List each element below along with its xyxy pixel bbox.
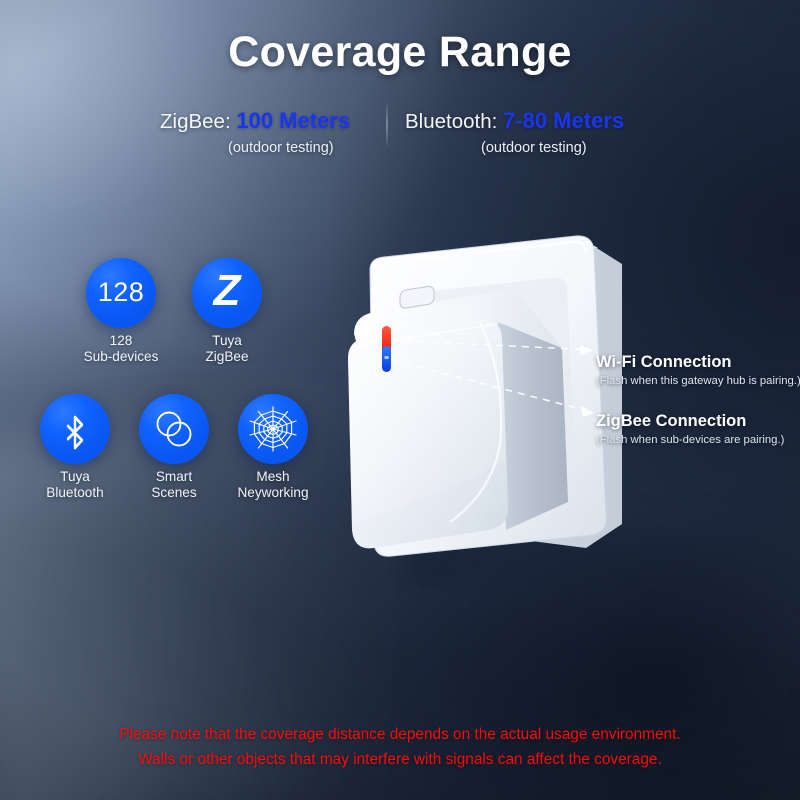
infographic-canvas: Coverage Range ZigBee: 100 Meters (outdo… <box>0 0 800 800</box>
badge-tuya-zigbee: Z <box>192 258 262 328</box>
smart-gateway-hub <box>330 230 630 590</box>
stat-bluetooth-value: 7-80 Meters <box>503 108 624 133</box>
footer-line-1: Please note that the coverage distance d… <box>0 722 800 747</box>
stat-zigbee-value: 100 Meters <box>236 108 350 133</box>
badge-smart-scenes <box>139 394 209 464</box>
badge-tuya-zigbee-label: Tuya ZigBee <box>152 333 302 364</box>
stat-zigbee-note: (outdoor testing) <box>228 140 334 156</box>
smart-scenes-icon <box>150 405 198 453</box>
bluetooth-icon <box>55 406 95 452</box>
callout-wifi-note: (Flash when this gateway hub is pairing.… <box>596 375 800 387</box>
callout-wifi-title: Wi-Fi Connection <box>596 353 800 372</box>
badge-mesh-networking <box>238 394 308 464</box>
callout-wifi-connection: Wi-Fi Connection (Flash when this gatewa… <box>596 353 800 387</box>
footer-disclaimer: Please note that the coverage distance d… <box>0 722 800 772</box>
gateway-illustration <box>330 230 630 590</box>
stat-bluetooth-label: Bluetooth: <box>405 110 497 133</box>
page-title: Coverage Range <box>0 28 800 77</box>
stat-bluetooth: Bluetooth: 7-80 Meters <box>405 108 624 134</box>
stat-zigbee: ZigBee: 100 Meters <box>160 108 350 134</box>
stat-bluetooth-note: (outdoor testing) <box>481 140 587 156</box>
coverage-stats: ZigBee: 100 Meters (outdoor testing) Blu… <box>0 108 800 174</box>
badge-mesh-networking-label: Mesh Neyworking <box>198 469 348 500</box>
tuya-zigbee-z-icon: Z <box>214 269 241 313</box>
badge-tuya-bluetooth <box>40 394 110 464</box>
callout-zigbee-connection: ZigBee Connection (Flash when sub-device… <box>596 412 784 446</box>
footer-line-2: Walls or other objects that may interfer… <box>0 747 800 772</box>
gateway-side <box>498 322 568 530</box>
stat-zigbee-label: ZigBee: <box>160 110 231 133</box>
callout-zigbee-note: (Flash when sub-devices are pairing.) <box>596 434 784 446</box>
badge-sub-devices: 128 <box>86 258 156 328</box>
number-128-icon: 128 <box>98 277 145 308</box>
mesh-web-icon <box>246 404 300 454</box>
callout-zigbee-title: ZigBee Connection <box>596 412 784 431</box>
gateway-led-indicator <box>382 326 391 372</box>
